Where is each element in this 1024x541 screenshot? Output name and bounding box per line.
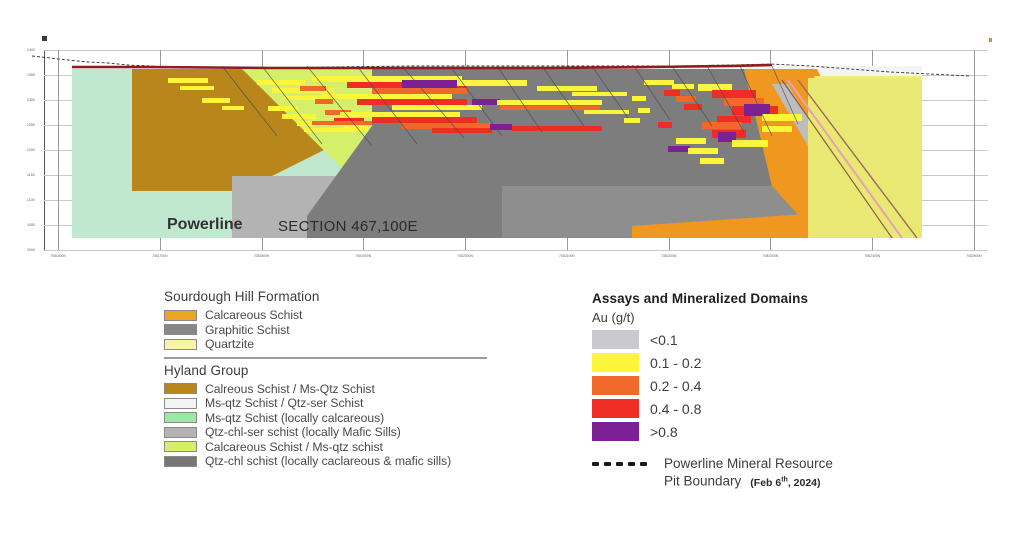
assay-class-row: >0.8 bbox=[592, 420, 892, 443]
legend-divider bbox=[164, 357, 487, 359]
sourdough-unit-label: Graphitic Schist bbox=[205, 323, 290, 337]
hyland-unit-row: Qtz-chl schist (locally caclareous & maf… bbox=[164, 454, 494, 469]
hyland-unit-swatch bbox=[164, 398, 197, 409]
x-tick-label: 7081900N bbox=[356, 254, 372, 258]
x-tick-label: 7082400N bbox=[864, 254, 880, 258]
sourdough-unit-label: Quartzite bbox=[205, 337, 254, 351]
sourdough-unit-swatch bbox=[164, 324, 197, 335]
assay-unit-label: Au (g/t) bbox=[592, 310, 892, 325]
x-tick-label: 7082000N bbox=[457, 254, 473, 258]
section-title: SECTION 467,100E bbox=[278, 218, 418, 235]
y-tick-label: 1200 bbox=[27, 148, 35, 152]
assay-class-swatch bbox=[592, 399, 639, 418]
hyland-unit-row: Calcareous Schist / Ms-qtz schist bbox=[164, 440, 494, 455]
hyland-unit-swatch bbox=[164, 383, 197, 394]
assay-class-row: 0.4 - 0.8 bbox=[592, 397, 892, 420]
assay-class-label: 0.1 - 0.2 bbox=[650, 355, 701, 371]
assay-class-items: <0.10.1 - 0.20.2 - 0.40.4 - 0.8>0.8 bbox=[592, 328, 892, 443]
assay-class-swatch bbox=[592, 353, 639, 372]
x-tick-label: 7081800N bbox=[254, 254, 270, 258]
gridline-horizontal bbox=[44, 250, 988, 251]
hyland-unit-row: Calreous Schist / Ms-Qtz Schist bbox=[164, 382, 494, 397]
hyland-unit-label: Ms-qtz Schist / Qtz-ser Schist bbox=[205, 396, 363, 410]
sourdough-unit-row: Calcareous Schist bbox=[164, 308, 494, 323]
hyland-unit-swatch bbox=[164, 427, 197, 438]
y-tick-label: 1050 bbox=[27, 223, 35, 227]
hyland-unit-row: Ms-qtz Schist / Qtz-ser Schist bbox=[164, 396, 494, 411]
geology-panel bbox=[72, 66, 922, 238]
sourdough-unit-row: Quartzite bbox=[164, 337, 494, 352]
hyland-unit-label: Qtz-chl-ser schist (locally Mafic Sills) bbox=[205, 425, 401, 439]
x-tick-label: 7082200N bbox=[661, 254, 677, 258]
hyland-unit-swatch bbox=[164, 456, 197, 467]
scale-marker-icon bbox=[989, 38, 992, 42]
y-tick-label: 1150 bbox=[27, 173, 35, 177]
legend-group1-items: Calcareous SchistGraphitic SchistQuartzi… bbox=[164, 308, 494, 352]
assay-class-swatch bbox=[592, 330, 639, 349]
assay-legend: Assays and Mineralized Domains Au (g/t) … bbox=[592, 291, 892, 491]
assay-class-swatch bbox=[592, 422, 639, 441]
dashed-line-icon bbox=[592, 462, 652, 466]
gridline-horizontal bbox=[44, 50, 988, 51]
legend-group2-items: Calreous Schist / Ms-Qtz SchistMs-qtz Sc… bbox=[164, 382, 494, 469]
y-tick-label: 1300 bbox=[27, 98, 35, 102]
sourdough-unit-row: Graphitic Schist bbox=[164, 323, 494, 338]
geology-legend: Sourdough Hill Formation Calcareous Schi… bbox=[164, 289, 494, 469]
assay-class-label: 0.4 - 0.8 bbox=[650, 401, 701, 417]
gridline-vertical bbox=[974, 50, 975, 250]
figure-root: 140013501300125012001150110010501000 708… bbox=[0, 0, 1024, 541]
assay-class-label: 0.2 - 0.4 bbox=[650, 378, 701, 394]
hyland-unit-row: Ms-qtz Schist (locally calcareous) bbox=[164, 411, 494, 426]
x-tick-label: 7082300N bbox=[763, 254, 779, 258]
x-tick-label: 7082500N bbox=[966, 254, 982, 258]
pit-boundary-date: (Feb 6th, 2024) bbox=[750, 477, 820, 489]
north-marker-icon bbox=[42, 36, 47, 41]
y-tick-label: 1350 bbox=[27, 73, 35, 77]
pit-boundary-text: Powerline Mineral Resource Pit Boundary(… bbox=[664, 456, 833, 491]
hyland-unit-label: Ms-qtz Schist (locally calcareous) bbox=[205, 411, 384, 425]
hyland-unit-label: Qtz-chl schist (locally caclareous & maf… bbox=[205, 454, 451, 468]
y-tick-label: 1000 bbox=[27, 248, 35, 252]
assay-class-row: 0.2 - 0.4 bbox=[592, 374, 892, 397]
hyland-unit-swatch bbox=[164, 441, 197, 452]
assay-class-swatch bbox=[592, 376, 639, 395]
sourdough-unit-label: Calcareous Schist bbox=[205, 308, 302, 322]
hyland-unit-swatch bbox=[164, 412, 197, 423]
x-tick-label: 7081600N bbox=[50, 254, 66, 258]
assay-class-row: <0.1 bbox=[592, 328, 892, 351]
pit-boundary-legend-entry: Powerline Mineral Resource Pit Boundary(… bbox=[592, 456, 892, 491]
y-tick-label: 1100 bbox=[27, 198, 35, 202]
sourdough-unit-swatch bbox=[164, 339, 197, 350]
assay-class-label: <0.1 bbox=[650, 332, 678, 348]
x-tick-label: 7082100N bbox=[559, 254, 575, 258]
x-tick-label: 7081700N bbox=[152, 254, 168, 258]
hyland-unit-row: Qtz-chl-ser schist (locally Mafic Sills) bbox=[164, 425, 494, 440]
y-tick-label: 1250 bbox=[27, 123, 35, 127]
assay-class-row: 0.1 - 0.2 bbox=[592, 351, 892, 374]
gridline-vertical bbox=[58, 50, 59, 250]
legend-group2-heading: Hyland Group bbox=[164, 363, 494, 378]
hyland-unit-label: Calreous Schist / Ms-Qtz Schist bbox=[205, 382, 375, 396]
sourdough-unit-swatch bbox=[164, 310, 197, 321]
deposit-label: Powerline bbox=[167, 216, 243, 234]
pit-boundary-line1: Powerline Mineral Resource bbox=[664, 456, 833, 471]
hyland-unit-label: Calcareous Schist / Ms-qtz schist bbox=[205, 440, 383, 454]
assay-class-label: >0.8 bbox=[650, 424, 678, 440]
legend-group1-heading: Sourdough Hill Formation bbox=[164, 289, 494, 304]
pit-boundary-line2: Pit Boundary bbox=[664, 474, 741, 489]
assay-legend-heading: Assays and Mineralized Domains bbox=[592, 291, 892, 306]
y-tick-label: 1400 bbox=[27, 48, 35, 52]
